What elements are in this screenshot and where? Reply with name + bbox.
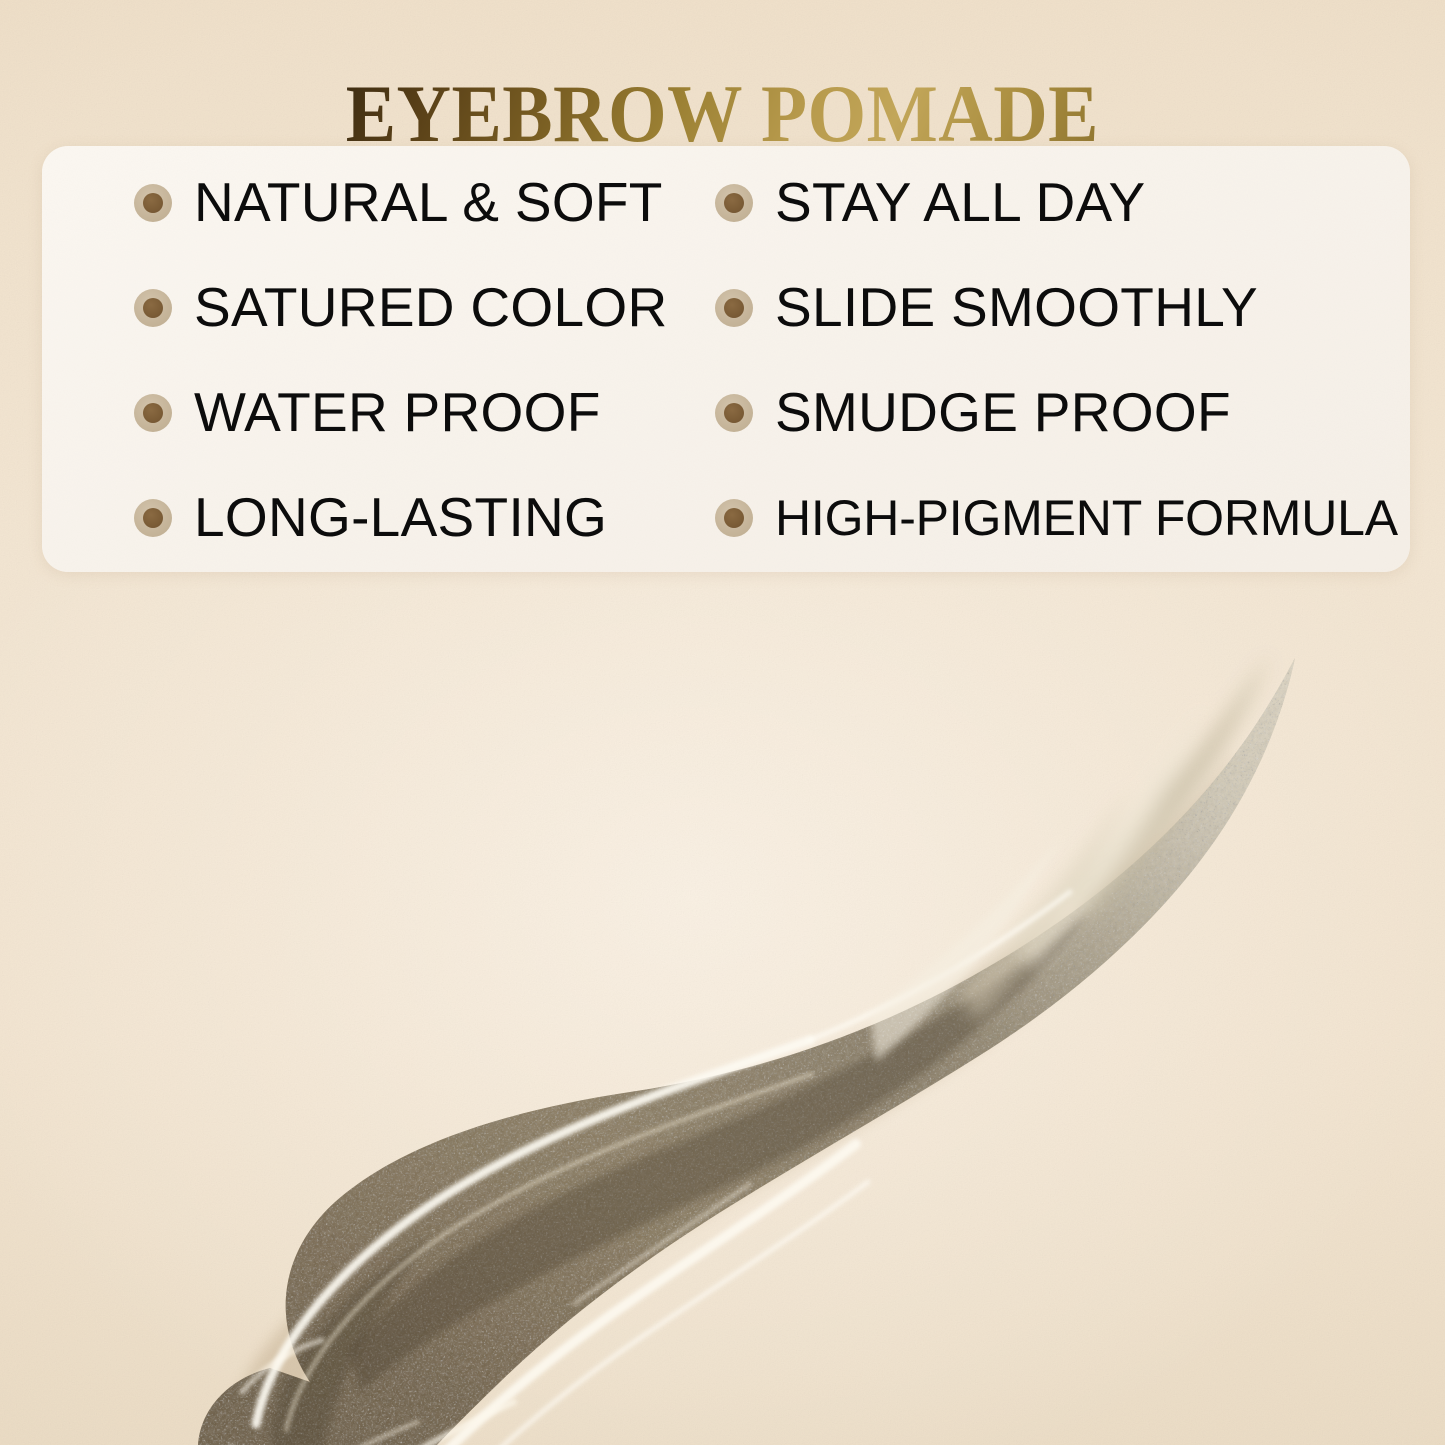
bullet-dot-icon [134, 499, 172, 537]
feature-item-smudge-proof: SMUDGE PROOF [703, 385, 1410, 440]
bullet-dot-icon [134, 394, 172, 432]
feature-label: SLIDE SMOOTHLY [775, 280, 1258, 335]
feature-label: SMUDGE PROOF [775, 385, 1231, 440]
feature-item-satured-color: SATURED COLOR [42, 280, 703, 335]
bullet-dot-icon [715, 289, 753, 327]
feature-label: LONG-LASTING [194, 490, 607, 545]
swatch-tip-feather [956, 654, 1270, 1020]
feature-item-slide-smoothly: SLIDE SMOOTHLY [703, 280, 1410, 335]
bullet-dot-icon [134, 289, 172, 327]
title-container: EYEBROW POMADE [0, 16, 1445, 213]
feature-label: WATER PROOF [194, 385, 601, 440]
feature-item-long-lasting: LONG-LASTING [42, 490, 703, 545]
feature-item-high-pigment-formula: HIGH-PIGMENT FORMULA [703, 493, 1410, 543]
feature-label: HIGH-PIGMENT FORMULA [775, 493, 1398, 543]
product-swatch-area [0, 572, 1445, 1445]
product-listing-image: EYEBROW POMADE NATURAL & SOFT [0, 0, 1445, 1445]
bullet-dot-icon [715, 394, 753, 432]
bullet-dot-icon [715, 499, 753, 537]
eyebrow-pomade-smear [0, 562, 1445, 1445]
feature-item-water-proof: WATER PROOF [42, 385, 703, 440]
page-title: EYEBROW POMADE [346, 71, 1099, 158]
swatch-body [0, 562, 1445, 1445]
feature-label: SATURED COLOR [194, 280, 668, 335]
